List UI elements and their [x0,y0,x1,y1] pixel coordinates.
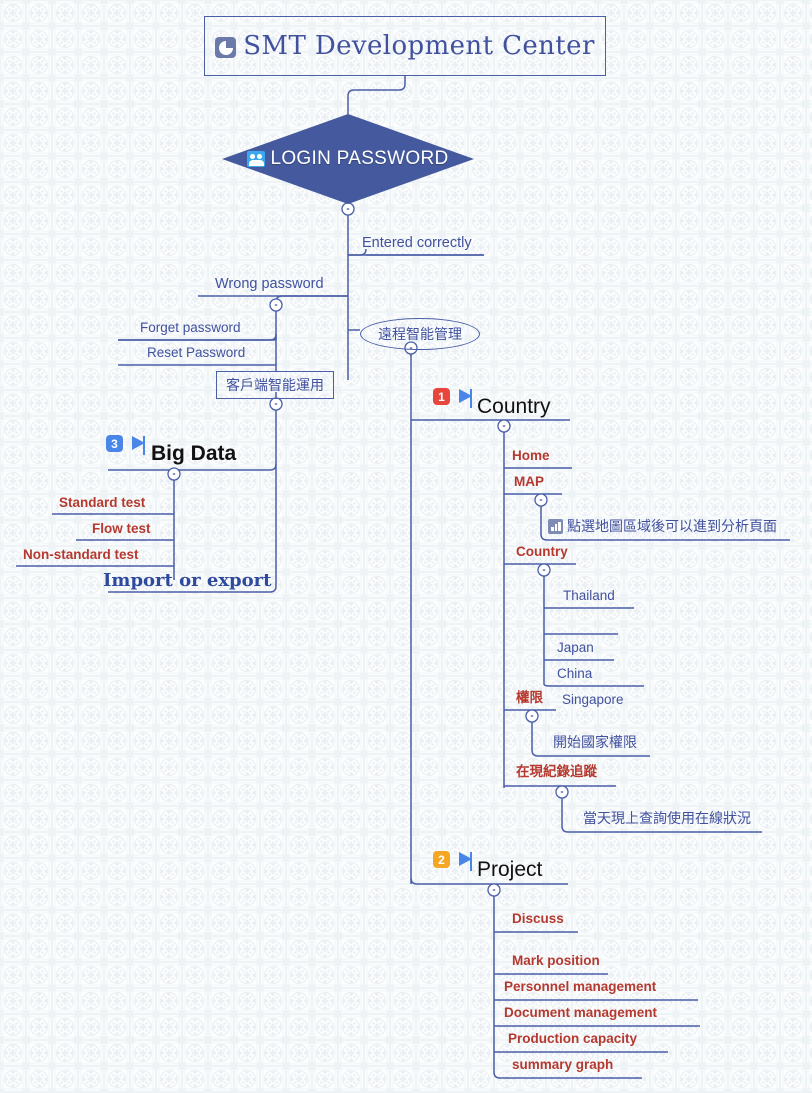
flag-icon-project [459,852,472,866]
item-thailand[interactable]: Thailand [563,589,615,603]
item-china[interactable]: China [557,667,592,681]
item-japan[interactable]: Japan [557,641,594,655]
root-title-box[interactable]: SMT Development Center [204,16,606,76]
flag-icon-country [459,389,472,403]
item-discuss[interactable]: Discuss [512,912,564,926]
item-summary-graph[interactable]: summary graph [512,1058,613,1072]
note-live-tracking[interactable]: 當天現上查詢使用在線狀況 [583,812,751,826]
item-production-capacity[interactable]: Production capacity [508,1032,637,1046]
label-wrong-password[interactable]: Wrong password [215,277,324,292]
badge-bigdata: 3 [106,435,123,452]
item-mark-position[interactable]: Mark position [512,954,600,968]
label-entered-correctly[interactable]: Entered correctly [362,236,472,251]
heading-bigdata[interactable]: Big Data [151,443,236,464]
item-permission[interactable]: 權限 [516,691,543,705]
item-country-sub[interactable]: Country [516,545,568,559]
item-flow-test[interactable]: Flow test [92,522,151,536]
item-live-tracking[interactable]: 在現紀錄追蹤 [516,765,597,779]
flag-icon-bigdata [132,436,145,450]
heading-country[interactable]: Country [477,396,551,417]
login-password-decision[interactable]: LOGIN PASSWORD [222,114,474,204]
pie-chart-icon [215,37,236,58]
item-singapore[interactable]: Singapore [562,693,624,707]
item-standard-test[interactable]: Standard test [59,496,145,510]
badge-country: 1 [433,388,450,405]
node-client-smart-use[interactable]: 客戶端智能運用 [216,371,334,399]
item-map[interactable]: MAP [514,475,544,489]
label-forget-password[interactable]: Forget password [140,321,241,335]
note-permission[interactable]: 開始國家權限 [553,736,637,750]
badge-project: 2 [433,851,450,868]
users-icon [247,151,265,167]
heading-project[interactable]: Project [477,859,542,880]
item-personnel-management[interactable]: Personnel management [504,980,656,994]
label-reset-password[interactable]: Reset Password [147,346,245,360]
node-remote-smart-management[interactable]: 遠程智能管理 [360,318,480,350]
decision-label: LOGIN PASSWORD [270,148,448,170]
root-title: SMT Development Center [243,31,595,61]
item-home[interactable]: Home [512,449,550,463]
item-import-or-export[interactable]: Import or export [103,572,271,590]
item-document-management[interactable]: Document management [504,1006,657,1020]
item-non-standard-test[interactable]: Non-standard test [23,548,139,562]
bar-chart-icon [548,519,563,534]
note-map[interactable]: 點選地圖區域後可以進到分析頁面 [548,519,777,534]
